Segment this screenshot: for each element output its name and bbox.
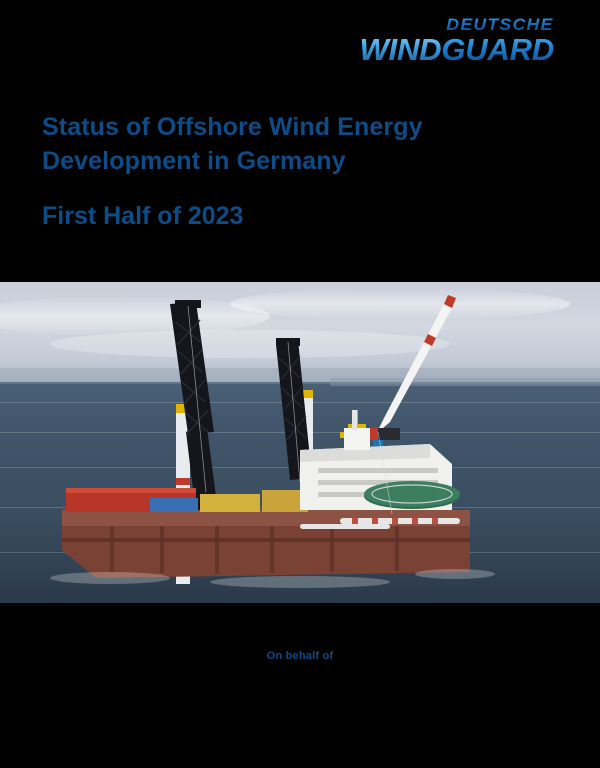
page-title: Status of Offshore Wind Energy Developme… (42, 110, 512, 231)
brand-line-deutsche: DEUTSCHE (352, 16, 554, 33)
document-cover-page: DEUTSCHE WINDGUARD Status of Offshore Wi… (0, 0, 600, 768)
brand-word-wind: WIND (359, 32, 441, 67)
title-line-1: Status of Offshore Wind Energy (42, 110, 512, 144)
on-behalf-of-label: On behalf of (0, 650, 600, 662)
partner-logo-strip: BWE Bundesverband WindEnergie BWO Bundes… (0, 684, 600, 764)
cover-photo-illustration (0, 282, 600, 603)
title-line-2: Development in Germany (42, 144, 512, 178)
title-subtitle: First Half of 2023 (42, 202, 512, 231)
brand-line-windguard: WINDGUARD (359, 34, 554, 65)
cover-photo-offshore-installation (0, 282, 600, 603)
deutsche-windguard-logo: DEUTSCHE WINDGUARD (359, 16, 554, 65)
brand-word-guard: GUARD (441, 32, 554, 67)
